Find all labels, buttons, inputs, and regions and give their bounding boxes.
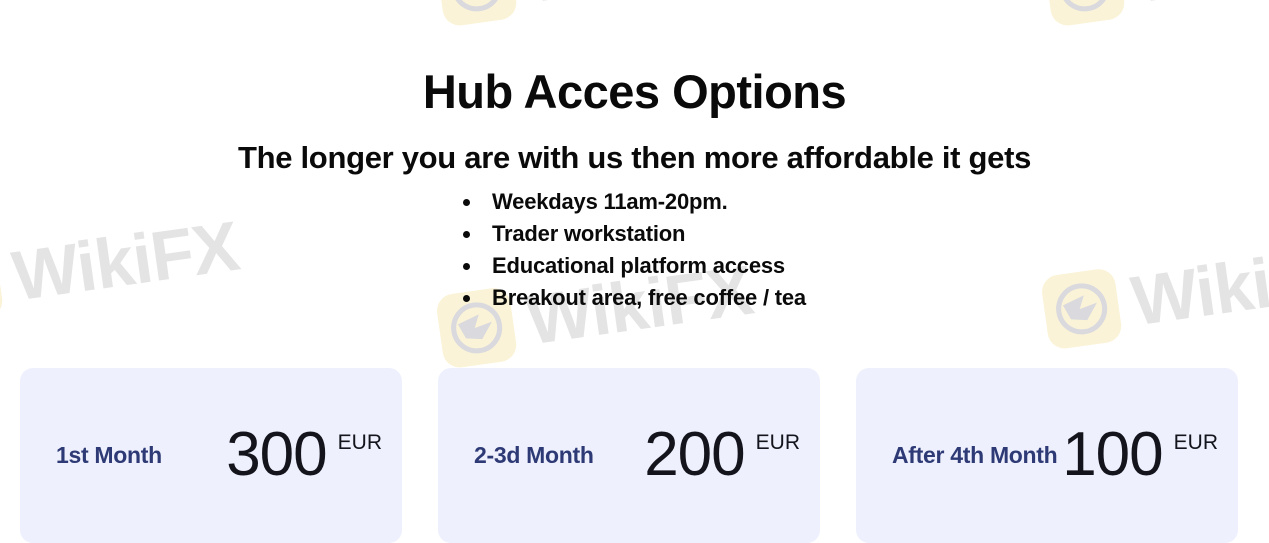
pricing-card-label: 1st Month: [56, 442, 162, 469]
page-subtitle: The longer you are with us then more aff…: [0, 141, 1269, 175]
feature-label: Educational platform access: [492, 253, 785, 278]
pricing-card-group: 1st Month 300 EUR 2-3d Month 200 EUR Aft…: [20, 368, 1238, 543]
pricing-card-label: After 4th Month: [892, 442, 1057, 469]
list-item: Weekdays 11am-20pm.: [455, 186, 806, 218]
pricing-card-price: 300 EUR: [226, 430, 382, 481]
price-amount: 300: [226, 430, 326, 481]
feature-label: Trader workstation: [492, 221, 685, 246]
pricing-card-2-3d-month[interactable]: 2-3d Month 200 EUR: [438, 368, 820, 543]
feature-list: Weekdays 11am-20pm. Trader workstation E…: [455, 186, 806, 314]
pricing-card-price: 100 EUR: [1062, 430, 1218, 481]
price-currency: EUR: [338, 432, 382, 453]
page-content: Hub Acces Options The longer you are wit…: [0, 0, 1269, 543]
price-amount: 100: [1062, 430, 1162, 481]
price-amount: 200: [644, 430, 744, 481]
bullet-icon: [463, 263, 470, 270]
bullet-icon: [463, 231, 470, 238]
price-currency: EUR: [756, 432, 800, 453]
list-item: Trader workstation: [455, 218, 806, 250]
feature-label: Weekdays 11am-20pm.: [492, 189, 728, 214]
bullet-icon: [463, 199, 470, 206]
price-currency: EUR: [1174, 432, 1218, 453]
pricing-card-1st-month[interactable]: 1st Month 300 EUR: [20, 368, 402, 543]
feature-label: Breakout area, free coffee / tea: [492, 285, 806, 310]
page-title: Hub Acces Options: [0, 66, 1269, 118]
pricing-card-price: 200 EUR: [644, 430, 800, 481]
pricing-card-after-4th-month[interactable]: After 4th Month 100 EUR: [856, 368, 1238, 543]
pricing-card-label: 2-3d Month: [474, 442, 594, 469]
list-item: Breakout area, free coffee / tea: [455, 282, 806, 314]
bullet-icon: [463, 295, 470, 302]
list-item: Educational platform access: [455, 250, 806, 282]
